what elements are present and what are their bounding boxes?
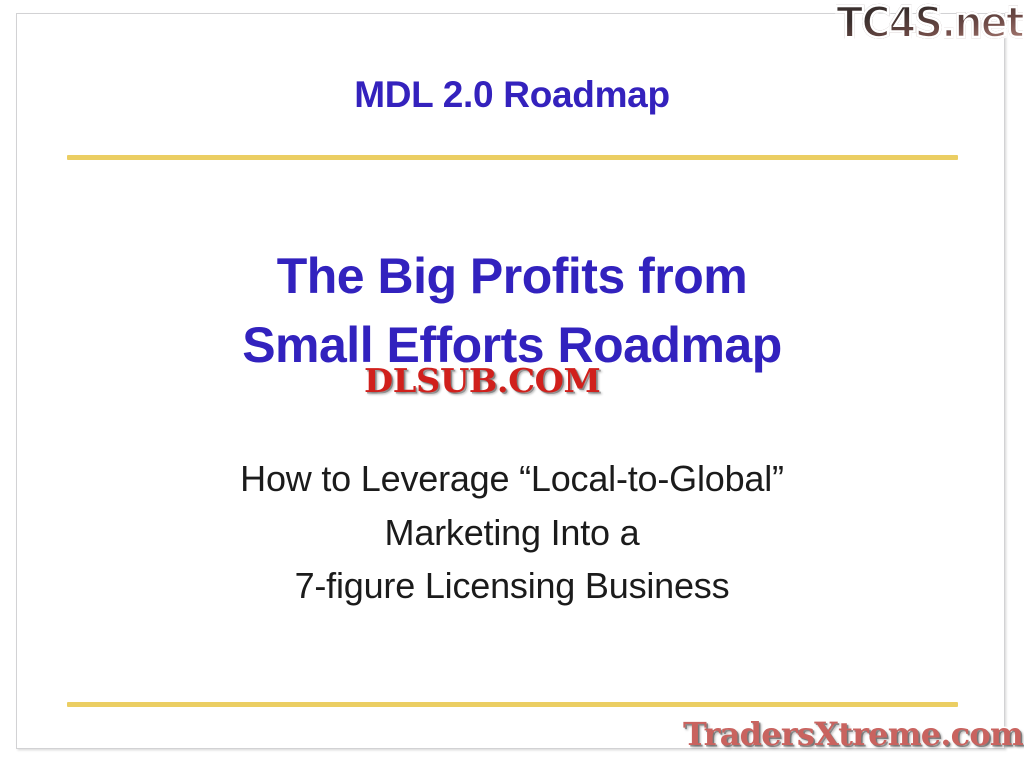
watermark-dlsub-logo: DLSUB.COM [364,363,600,400]
headline: The Big Profits from Small Efforts Roadm… [0,242,1024,379]
divider-line-top [67,155,958,160]
body-line-3: 7-figure Licensing Business [0,559,1024,613]
body-line-2: Marketing Into a [0,506,1024,560]
headline-line-1: The Big Profits from [0,242,1024,311]
slide-title: MDL 2.0 Roadmap [0,74,1024,116]
divider-line-bottom [67,702,958,707]
body-copy: How to Leverage “Local-to-Global” Market… [0,452,1024,613]
slide-canvas: { "slide": { "title": "MDL 2.0 Roadmap",… [0,0,1024,768]
body-line-1: How to Leverage “Local-to-Global” [0,452,1024,506]
watermark-tradersxtreme-logo: TradersXtreme.com [683,716,1023,753]
watermark-tc4s-logo: TC4S.net [836,2,1023,45]
